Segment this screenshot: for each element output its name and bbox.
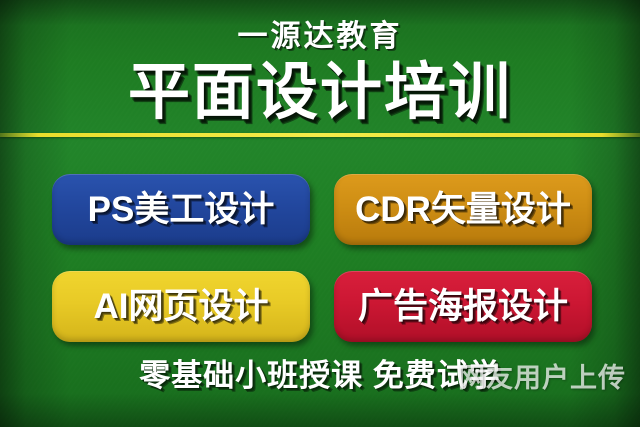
title-divider (0, 133, 640, 137)
course-label-ad: 广告海报设计 (358, 289, 568, 324)
course-card-cdr[interactable]: CDR矢量设计 (334, 174, 592, 245)
course-label-ai: AI网页设计 (93, 289, 268, 324)
course-card-ai[interactable]: AI网页设计 (52, 271, 310, 342)
course-list: PS美工设计 CDR矢量设计 AI网页设计 广告海报设计 (52, 174, 592, 342)
course-card-ad[interactable]: 广告海报设计 (334, 271, 592, 342)
page-title: 平面设计培训 (0, 60, 640, 125)
course-card-ps[interactable]: PS美工设计 (52, 174, 310, 245)
promo-poster: 一源达教育 平面设计培训 PS美工设计 CDR矢量设计 AI网页设计 广告海报设… (0, 0, 640, 427)
footer-tagline: 零基础小班授课 免费试学 (0, 360, 640, 391)
course-label-ps: PS美工设计 (88, 192, 275, 227)
brand-name: 一源达教育 (0, 22, 640, 52)
course-label-cdr: CDR矢量设计 (355, 192, 571, 227)
